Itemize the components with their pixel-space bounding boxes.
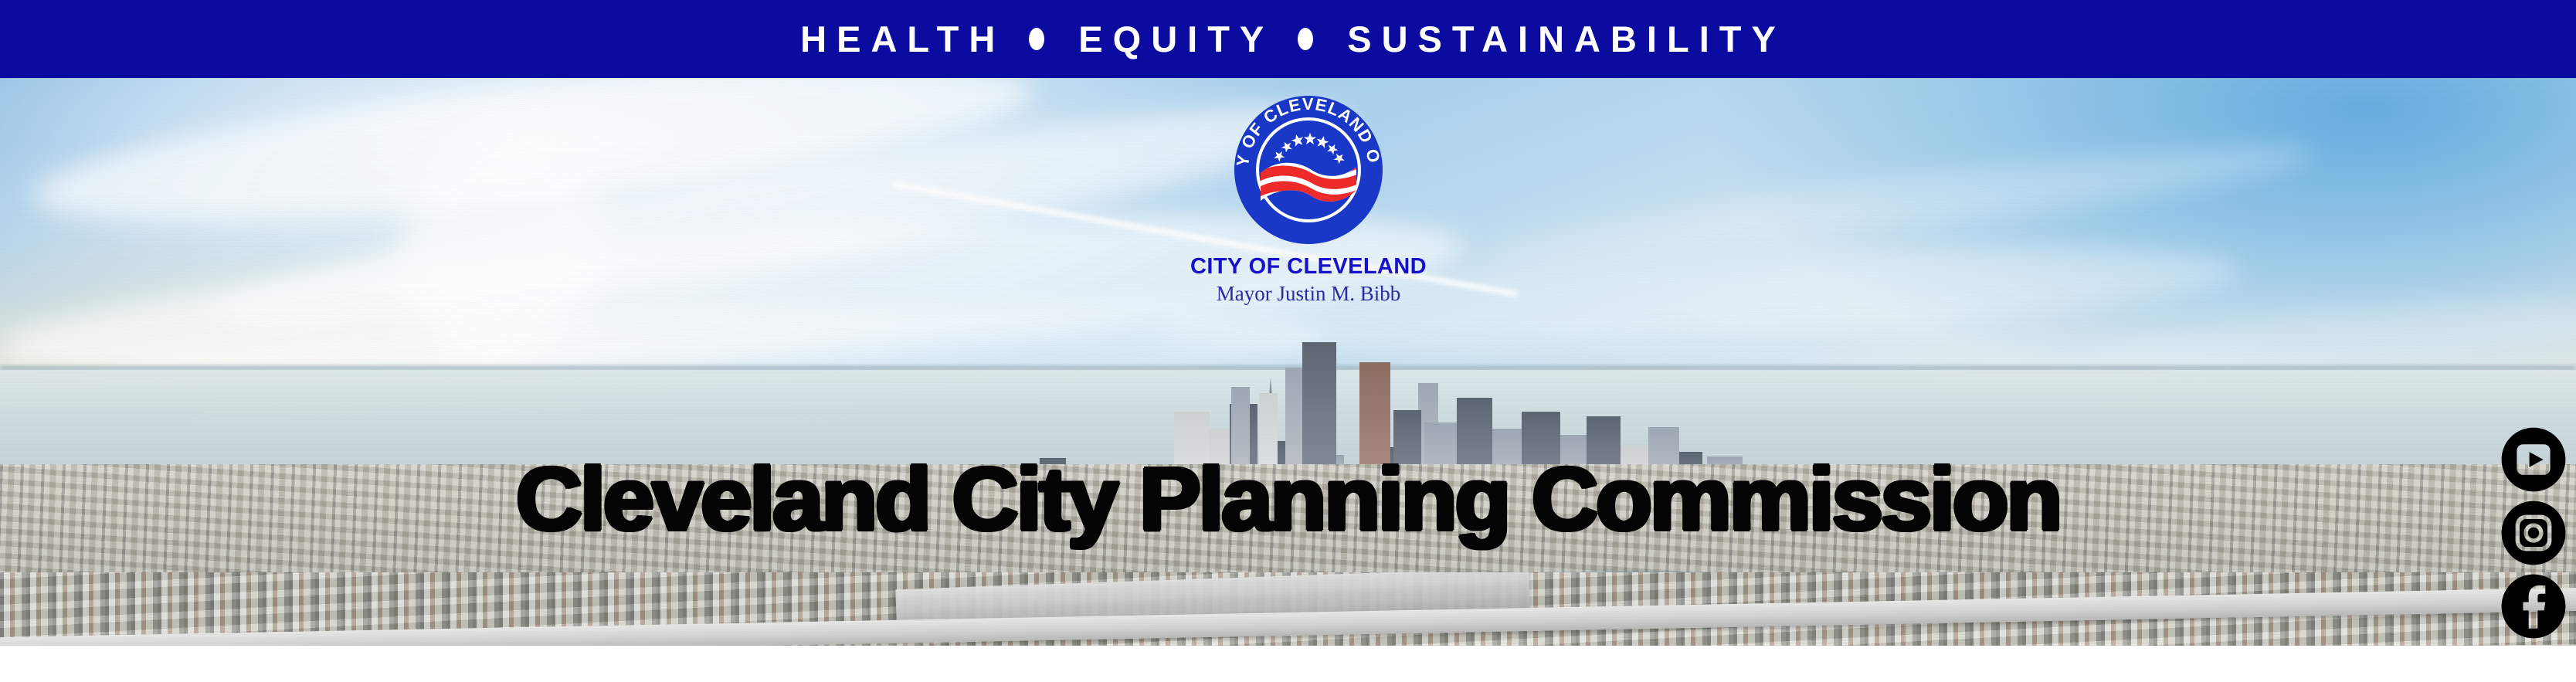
page-title: Cleveland City Planning Commission	[0, 454, 2576, 544]
youtube-icon[interactable]	[2499, 425, 2568, 494]
social-links	[2495, 425, 2572, 641]
bullet-dot-icon	[1298, 28, 1313, 50]
bottom-white-strip	[0, 646, 2576, 682]
tagline-word-health: HEALTH	[800, 21, 1005, 57]
seal-subtitle: Mayor Justin M. Bibb	[1154, 283, 1463, 304]
city-of-cleveland-seal-icon: CITY OF CLEVELAND OHIO	[1231, 93, 1386, 247]
facebook-icon[interactable]	[2499, 572, 2568, 641]
tagline-word-equity: EQUITY	[1078, 21, 1274, 57]
tagline-text: HEALTH EQUITY SUSTAINABILITY	[790, 21, 1786, 57]
seal-title: CITY OF CLEVELAND	[1154, 255, 1463, 278]
foreground-neighborhood	[0, 572, 2576, 646]
city-seal-block: CITY OF CLEVELAND OHIO	[1154, 93, 1463, 305]
page-root: HEALTH EQUITY SUSTAINABILITY	[0, 0, 2576, 682]
bullet-dot-icon	[1029, 28, 1044, 50]
tagline-word-sustainability: SUSTAINABILITY	[1347, 21, 1786, 57]
tagline-banner: HEALTH EQUITY SUSTAINABILITY	[0, 0, 2576, 78]
instagram-icon[interactable]	[2499, 498, 2568, 568]
